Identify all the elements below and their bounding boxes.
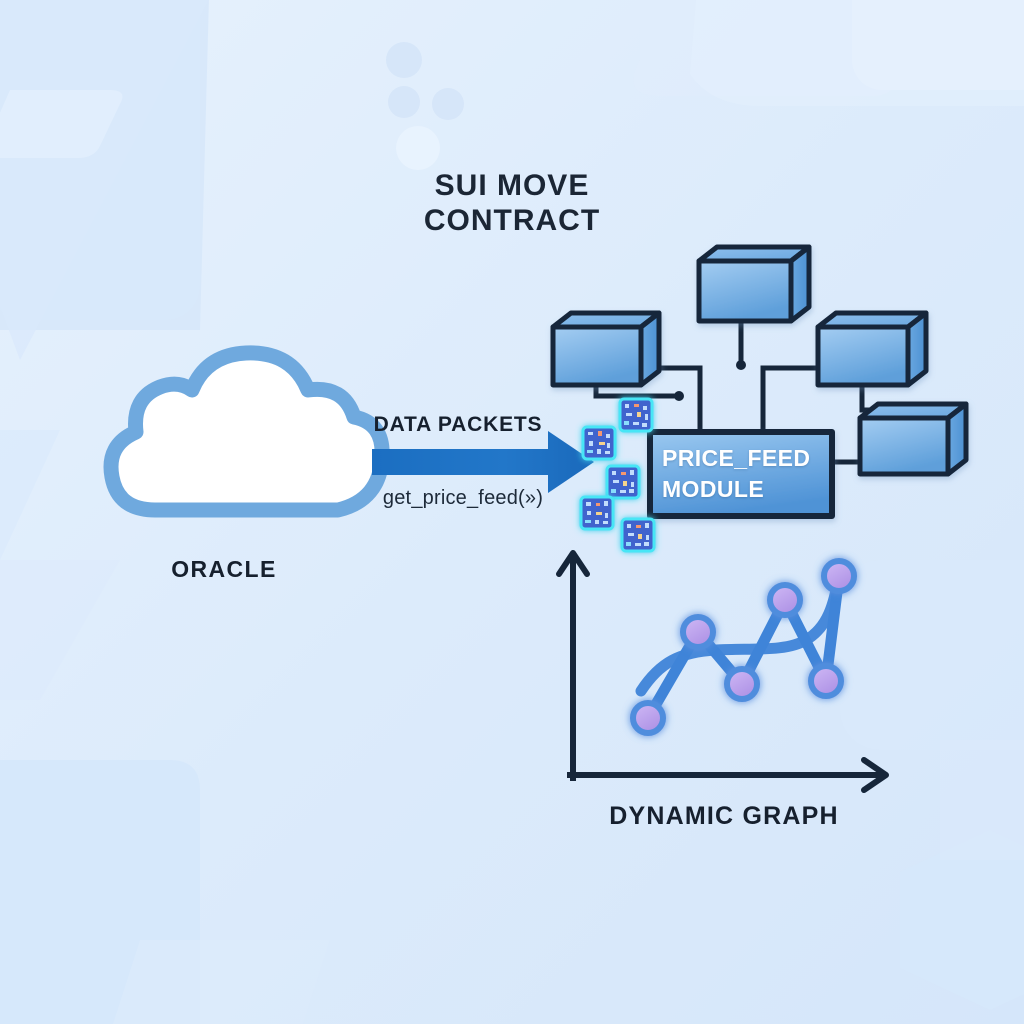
module-box-rect — [650, 432, 832, 516]
packet-3 — [607, 466, 639, 498]
node-top[interactable] — [699, 247, 809, 321]
packet-2 — [583, 427, 615, 459]
node-right-front — [818, 327, 908, 385]
page-title: SUI MOVE CONTRACT — [424, 168, 600, 238]
price-feed-module-box[interactable] — [650, 432, 832, 516]
node-right[interactable] — [818, 313, 926, 385]
connector-dot-left — [674, 391, 684, 401]
diagram-main-layer — [0, 0, 1024, 1024]
arrow-right-icon — [372, 431, 594, 493]
connector-dot-center — [736, 360, 746, 370]
get-price-feed-label: get_price_feed(») — [383, 487, 543, 510]
connector-right-to-module — [763, 368, 818, 434]
data-packets-label: DATA PACKETS — [374, 413, 543, 437]
node-right-lower-front — [860, 418, 948, 474]
node-left-front — [553, 327, 641, 385]
oracle-label: ORACLE — [171, 556, 277, 583]
packet-5 — [622, 519, 654, 551]
packet-1 — [620, 399, 652, 431]
oracle-cloud-group — [111, 353, 382, 510]
graph-marker — [811, 666, 841, 696]
graph-marker — [727, 669, 757, 699]
packet-4 — [581, 497, 613, 529]
dynamic-graph-label: DYNAMIC GRAPH — [609, 802, 839, 831]
data-packets-group — [581, 399, 654, 551]
graph-marker — [683, 617, 713, 647]
graph-marker — [633, 703, 663, 733]
node-right-lower[interactable] — [860, 404, 966, 474]
node-top-side — [791, 247, 809, 321]
node-top-front — [699, 261, 791, 321]
node-left-side — [641, 313, 659, 385]
graph-marker — [770, 585, 800, 615]
node-left[interactable] — [553, 313, 659, 385]
dynamic-graph-group — [559, 553, 886, 790]
graph-marker — [824, 561, 854, 591]
data-flow-arrow-group — [372, 431, 594, 493]
node-right-side — [908, 313, 926, 385]
cloud-icon — [111, 353, 382, 510]
node-right-lower-side — [948, 404, 966, 474]
diagram-canvas: SUI MOVE CONTRACT ORACLE DATA PACKETS ge… — [0, 0, 1024, 1024]
